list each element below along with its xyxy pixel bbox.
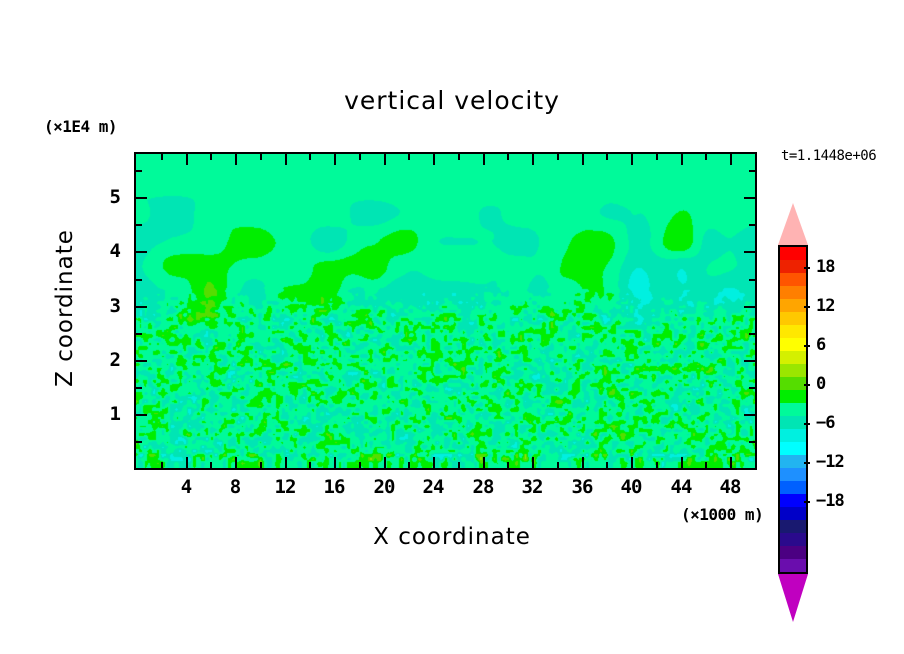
colorbar-tick (804, 423, 810, 425)
y-tick-major-right (744, 306, 755, 308)
x-tick-major-top (631, 154, 633, 165)
colorbar-band (780, 364, 806, 377)
colorbar-band (780, 325, 806, 338)
y-tick-major (136, 197, 147, 199)
colorbar-label: 6 (816, 335, 825, 355)
x-tick-minor-top (309, 154, 311, 160)
page-title: vertical velocity (0, 86, 904, 115)
x-tick-major-top (285, 154, 287, 165)
x-tick-label: 40 (621, 476, 642, 498)
figure-root: vertical velocity (×1E4 m) t=1.1448e+06 … (0, 0, 904, 654)
y-tick-major (136, 306, 147, 308)
colorbar-band (780, 416, 806, 429)
x-tick-minor (210, 462, 212, 468)
colorbar-bands (778, 245, 808, 574)
colorbar-band (780, 312, 806, 325)
colorbar-tick (804, 306, 810, 308)
x-tick-major-top (483, 154, 485, 165)
colorbar-band (780, 247, 806, 260)
colorbar-band (780, 351, 806, 364)
x-tick-major-top (334, 154, 336, 165)
colorbar-band (780, 273, 806, 286)
x-tick-minor-top (458, 154, 460, 160)
x-tick-major (483, 457, 485, 468)
x-tick-minor-top (705, 154, 707, 160)
x-tick-major (285, 457, 287, 468)
x-tick-minor (557, 462, 559, 468)
colorbar-band (780, 377, 806, 390)
y-tick-minor (136, 441, 142, 443)
y-tick-major (136, 360, 147, 362)
x-tick-major-top (681, 154, 683, 165)
x-tick-minor-top (161, 154, 163, 160)
x-tick-label: 8 (230, 476, 240, 498)
colorbar-tick (804, 501, 810, 503)
x-tick-major-top (186, 154, 188, 165)
x-tick-label: 12 (275, 476, 296, 498)
x-tick-label: 4 (181, 476, 191, 498)
colorbar-under-cap (778, 574, 808, 622)
x-tick-minor-top (408, 154, 410, 160)
x-axis-unit-label: (×1000 m) (681, 505, 763, 524)
x-tick-minor-top (359, 154, 361, 160)
x-tick-major-top (235, 154, 237, 165)
x-tick-minor (656, 462, 658, 468)
x-tick-label: 44 (671, 476, 692, 498)
colorbar-band (780, 468, 806, 481)
y-tick-minor (136, 333, 142, 335)
colorbar-band (780, 520, 806, 533)
x-tick-major (582, 457, 584, 468)
colorbar-band (780, 546, 806, 559)
y-axis-unit-label: (×1E4 m) (44, 117, 117, 136)
y-axis-title: Z coordinate (52, 188, 78, 428)
x-tick-minor (606, 462, 608, 468)
x-tick-label: 24 (423, 476, 444, 498)
y-tick-major-right (744, 251, 755, 253)
colorbar-label: −18 (816, 491, 844, 511)
x-tick-major (532, 457, 534, 468)
x-tick-label: 20 (374, 476, 395, 498)
y-tick-major (136, 251, 147, 253)
x-tick-minor (705, 462, 707, 468)
y-tick-minor-right (749, 170, 755, 172)
x-tick-major (186, 457, 188, 468)
y-tick-minor (136, 387, 142, 389)
x-tick-minor-top (507, 154, 509, 160)
x-tick-major-top (582, 154, 584, 165)
x-tick-minor (408, 462, 410, 468)
colorbar-band (780, 299, 806, 312)
y-tick-major-right (744, 360, 755, 362)
time-annotation: t=1.1448e+06 (781, 148, 876, 164)
colorbar-label: 0 (816, 374, 825, 394)
y-tick-minor (136, 279, 142, 281)
x-tick-minor-top (260, 154, 262, 160)
colorbar-tick (804, 267, 810, 269)
y-tick-minor-right (749, 224, 755, 226)
colorbar-band (780, 442, 806, 455)
colorbar-band (780, 533, 806, 546)
x-tick-major (235, 457, 237, 468)
colorbar-label: 18 (816, 257, 834, 277)
colorbar-band (780, 429, 806, 442)
colorbar-band (780, 403, 806, 416)
colorbar-band (780, 559, 806, 572)
x-tick-minor-top (210, 154, 212, 160)
x-tick-minor (260, 462, 262, 468)
x-tick-label: 28 (473, 476, 494, 498)
x-tick-major-top (730, 154, 732, 165)
y-tick-major-right (744, 197, 755, 199)
colorbar-band (780, 494, 806, 507)
colorbar: 181260−6−12−18 (770, 200, 900, 525)
colorbar-tick (804, 462, 810, 464)
x-tick-minor (309, 462, 311, 468)
colorbar-band (780, 390, 806, 403)
colorbar-label: 12 (816, 296, 834, 316)
x-tick-major (334, 457, 336, 468)
x-tick-minor (458, 462, 460, 468)
x-tick-major-top (384, 154, 386, 165)
x-tick-minor-top (656, 154, 658, 160)
x-tick-major (730, 457, 732, 468)
colorbar-band (780, 260, 806, 273)
y-tick-minor (136, 224, 142, 226)
x-tick-label: 48 (720, 476, 741, 498)
colorbar-label: −12 (816, 452, 844, 472)
y-tick-minor (136, 170, 142, 172)
y-tick-minor-right (749, 279, 755, 281)
x-tick-major (631, 457, 633, 468)
x-tick-major (433, 457, 435, 468)
colorbar-band (780, 286, 806, 299)
plot-area (134, 152, 757, 470)
x-tick-minor (161, 462, 163, 468)
colorbar-band (780, 455, 806, 468)
colorbar-band (780, 507, 806, 520)
x-tick-major-top (433, 154, 435, 165)
x-tick-label: 32 (522, 476, 543, 498)
colorbar-band (780, 338, 806, 351)
y-tick-minor-right (749, 333, 755, 335)
y-tick-major (136, 414, 147, 416)
x-tick-label: 16 (324, 476, 345, 498)
x-axis-title: X coordinate (0, 524, 904, 550)
y-tick-minor-right (749, 441, 755, 443)
colorbar-label: −6 (816, 413, 834, 433)
x-tick-minor (507, 462, 509, 468)
colorbar-band (780, 481, 806, 494)
x-tick-label: 36 (572, 476, 593, 498)
y-tick-major-right (744, 414, 755, 416)
contour-field (136, 154, 755, 468)
x-tick-minor-top (557, 154, 559, 160)
x-tick-minor (359, 462, 361, 468)
x-tick-major (384, 457, 386, 468)
x-tick-major-top (532, 154, 534, 165)
y-tick-minor-right (749, 387, 755, 389)
x-tick-minor-top (606, 154, 608, 160)
colorbar-tick (804, 345, 810, 347)
colorbar-over-cap (778, 203, 808, 245)
colorbar-tick (804, 384, 810, 386)
x-tick-major (681, 457, 683, 468)
